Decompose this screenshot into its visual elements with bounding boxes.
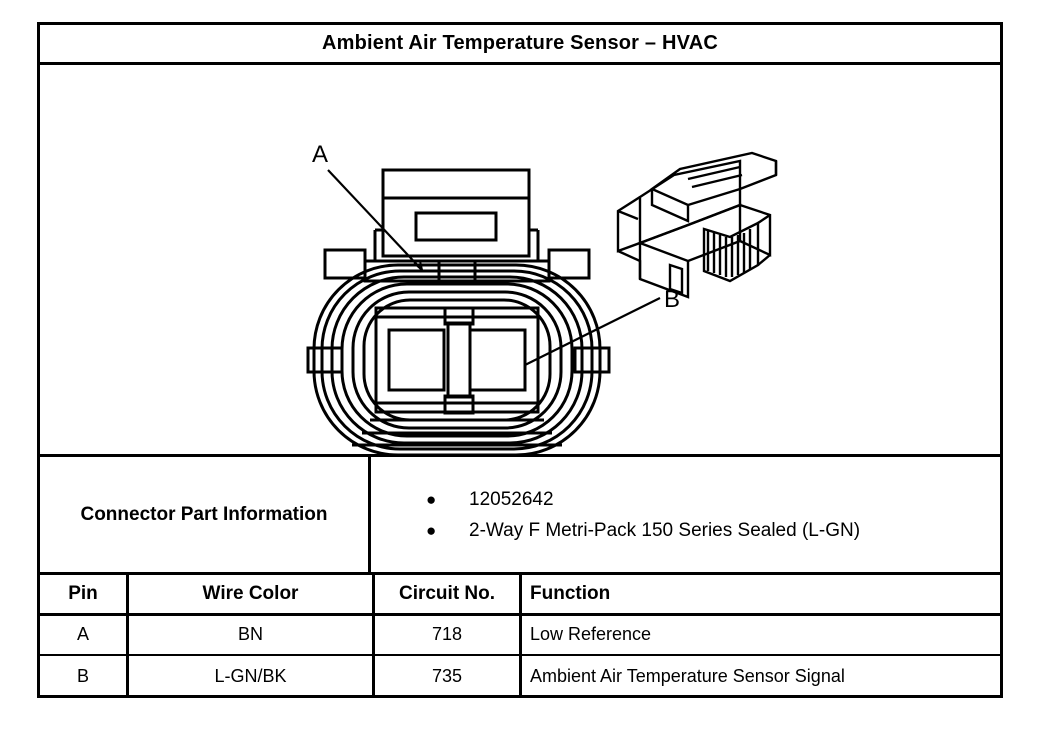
- table-row: B L-GN/BK 735 Ambient Air Temperature Se…: [40, 656, 1000, 697]
- header-label-pin: Pin: [68, 583, 98, 605]
- header-cell-function: Function: [522, 575, 1000, 613]
- table-row: A BN 718 Low Reference: [40, 616, 1000, 657]
- connector-front-view: [308, 170, 609, 455]
- connector-part-information-value-cell: ● 12052642 ● 2-Way F Metri-Pack 150 Seri…: [371, 457, 1000, 572]
- cell-pin: B: [40, 656, 129, 697]
- pin-table: Pin Wire Color Circuit No. Function A BN: [40, 575, 1000, 697]
- header-cell-pin: Pin: [40, 575, 129, 613]
- connector-part-item: ● 12052642: [426, 490, 1000, 509]
- terminal-cavity-a: [389, 330, 444, 390]
- header-cell-circuit-no: Circuit No.: [375, 575, 522, 613]
- value-wire-color: L-GN/BK: [214, 666, 286, 687]
- cell-wire-color: L-GN/BK: [129, 656, 375, 697]
- cell-function: Low Reference: [522, 616, 1000, 655]
- connector-part-description: 2-Way F Metri-Pack 150 Series Sealed (L-…: [469, 521, 860, 540]
- value-wire-color: BN: [238, 624, 263, 645]
- cell-circuit-no: 718: [375, 616, 522, 655]
- terminal-cavity-b: [470, 330, 525, 390]
- connector-center-post: [448, 323, 470, 397]
- header-label-function: Function: [530, 583, 610, 605]
- cell-function: Ambient Air Temperature Sensor Signal: [522, 656, 1000, 697]
- bullet-icon: ●: [426, 491, 469, 508]
- connector-part-number: 12052642: [469, 490, 554, 509]
- header-label-circuit-no: Circuit No.: [399, 583, 495, 605]
- value-pin: B: [77, 666, 89, 687]
- cell-pin: A: [40, 616, 129, 655]
- connector-seal-rings: [314, 265, 600, 455]
- header-cell-wire-color: Wire Color: [129, 575, 375, 613]
- connector-isometric-view: [618, 153, 776, 455]
- connector-illustration: A B: [40, 65, 1000, 455]
- value-pin: A: [77, 624, 89, 645]
- callout-b-label: B: [664, 286, 680, 313]
- cell-circuit-no: 735: [375, 656, 522, 697]
- value-circuit-no: 735: [432, 666, 462, 687]
- connector-part-information-label: Connector Part Information: [80, 504, 327, 526]
- callout-a-label: A: [312, 141, 328, 168]
- connector-part-information-row: Connector Part Information ● 12052642 ● …: [40, 457, 1000, 575]
- title-bar: Ambient Air Temperature Sensor – HVAC: [40, 25, 1000, 65]
- page-title: Ambient Air Temperature Sensor – HVAC: [322, 32, 718, 55]
- value-function: Low Reference: [530, 624, 651, 645]
- connector-part-information-label-cell: Connector Part Information: [40, 457, 371, 572]
- value-function: Ambient Air Temperature Sensor Signal: [530, 666, 845, 687]
- connector-top-block: [383, 170, 529, 256]
- pin-table-header-row: Pin Wire Color Circuit No. Function: [40, 575, 1000, 616]
- connector-part-item: ● 2-Way F Metri-Pack 150 Series Sealed (…: [426, 521, 1000, 540]
- connector-illustration-pane: A B: [40, 65, 1000, 457]
- page-root: Ambient Air Temperature Sensor – HVAC: [0, 0, 1056, 732]
- figure-frame: Ambient Air Temperature Sensor – HVAC: [37, 22, 1003, 698]
- header-label-wire-color: Wire Color: [203, 583, 299, 605]
- cell-wire-color: BN: [129, 616, 375, 655]
- value-circuit-no: 718: [432, 624, 462, 645]
- bullet-icon: ●: [426, 522, 469, 539]
